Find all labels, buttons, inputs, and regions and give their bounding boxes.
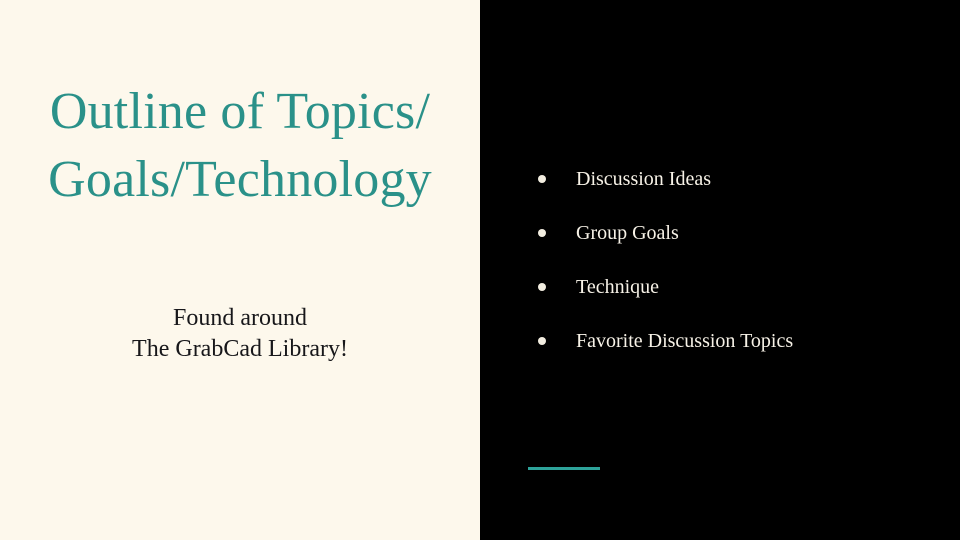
list-item: Discussion Ideas [528, 163, 928, 217]
slide-title: Outline of Topics/Goals/Technology [48, 78, 432, 214]
accent-rule-divider [528, 467, 600, 470]
bullet-label: Technique [576, 271, 659, 303]
title-block: Outline of Topics/Goals/Technology [48, 78, 432, 214]
list-item: Technique [528, 271, 928, 325]
outline-bullet-list: Discussion Ideas Group Goals Technique F… [528, 163, 928, 379]
list-item: Favorite Discussion Topics [528, 325, 928, 379]
subtitle-line-1: Found around [48, 303, 432, 334]
bullet-label: Favorite Discussion Topics [576, 325, 793, 357]
list-item: Group Goals [528, 217, 928, 271]
presentation-slide: Outline of Topics/Goals/Technology Found… [0, 0, 960, 540]
bullet-dot-icon [538, 337, 546, 345]
bullet-label: Discussion Ideas [576, 163, 711, 195]
subtitle-block: Found around The GrabCad Library! [48, 303, 432, 365]
bullet-dot-icon [538, 283, 546, 291]
subtitle-line-2: The GrabCad Library! [48, 334, 432, 365]
bullet-label: Group Goals [576, 217, 679, 249]
bullet-dot-icon [538, 175, 546, 183]
bullet-dot-icon [538, 229, 546, 237]
